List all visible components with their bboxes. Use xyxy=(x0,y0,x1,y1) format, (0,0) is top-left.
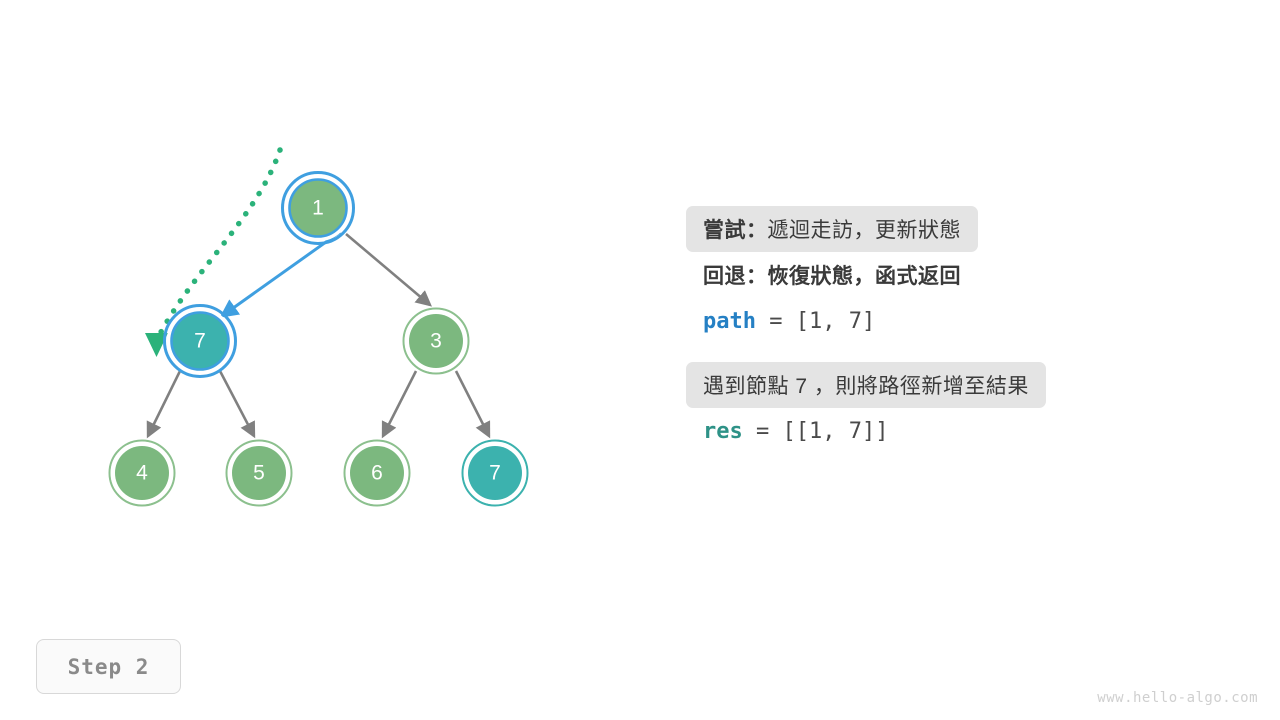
tree-node-label: 1 xyxy=(312,197,324,220)
explanation-panel: 嘗試： 遞迴走訪，更新狀態 回退： 恢復狀態，函式返回 path = [1, 7… xyxy=(686,206,1246,454)
tree-node-6[interactable]: 6 xyxy=(345,441,410,506)
tree-node-1[interactable]: 1 xyxy=(283,173,354,244)
edge-root-to-3 xyxy=(346,234,430,305)
info-row-try: 嘗試： 遞迴走訪，更新狀態 xyxy=(686,206,1246,252)
tree-node-label: 7 xyxy=(489,462,501,485)
path-variable-value: = [1, 7] xyxy=(756,309,875,334)
tree-node-label: 3 xyxy=(430,330,442,353)
edge-7-to-4 xyxy=(148,371,180,436)
tree-node-7-left[interactable]: 7 xyxy=(165,306,236,377)
backtrack-text: 恢復狀態，函式返回 xyxy=(768,260,962,290)
tree-node-4[interactable]: 4 xyxy=(110,441,175,506)
path-variable-name: path xyxy=(703,309,756,334)
info-row-backtrack: 回退： 恢復狀態，函式返回 xyxy=(686,252,1246,298)
edge-7-to-5 xyxy=(220,371,254,436)
leaf-note-text: 遇到節點 7 ，則將路徑新增至結果 xyxy=(703,370,1029,400)
tree-node-label: 4 xyxy=(136,462,148,485)
try-text: 遞迴走訪，更新狀態 xyxy=(768,214,962,244)
binary-tree-diagram: 1 7 3 4 5 xyxy=(0,0,660,720)
tree-node-7-right[interactable]: 7 xyxy=(463,441,528,506)
tree-node-5[interactable]: 5 xyxy=(227,441,292,506)
tree-node-label: 7 xyxy=(194,330,206,353)
path-box: path = [1, 7] xyxy=(686,298,892,344)
info-row-leaf-note: 遇到節點 7 ，則將路徑新增至結果 xyxy=(686,362,1246,408)
res-variable-value: = [[1, 7]] xyxy=(743,419,889,444)
edge-3-to-7 xyxy=(456,371,489,436)
edge-3-to-6 xyxy=(383,371,416,436)
try-label: 嘗試： xyxy=(703,214,768,244)
tree-node-3[interactable]: 3 xyxy=(404,309,469,374)
backtrack-box: 回退： 恢復狀態，函式返回 xyxy=(686,252,978,298)
info-row-res: res = [[1, 7]] xyxy=(686,408,1246,454)
panel-spacer xyxy=(686,344,1246,362)
backtrack-label: 回退： xyxy=(703,260,768,290)
site-watermark: www.hello-algo.com xyxy=(1097,690,1258,706)
leaf-note-highlight-box: 遇到節點 7 ，則將路徑新增至結果 xyxy=(686,362,1046,408)
step-badge: Step 2 xyxy=(36,639,181,694)
tree-node-label: 6 xyxy=(371,462,383,485)
recursion-trace-curve xyxy=(161,150,280,332)
res-box: res = [[1, 7]] xyxy=(686,408,905,454)
res-variable-name: res xyxy=(703,419,743,444)
tree-node-label: 5 xyxy=(253,462,265,485)
try-highlight-box: 嘗試： 遞迴走訪，更新狀態 xyxy=(686,206,978,252)
tree-nodes: 1 7 3 4 5 xyxy=(110,173,528,506)
info-row-path: path = [1, 7] xyxy=(686,298,1246,344)
